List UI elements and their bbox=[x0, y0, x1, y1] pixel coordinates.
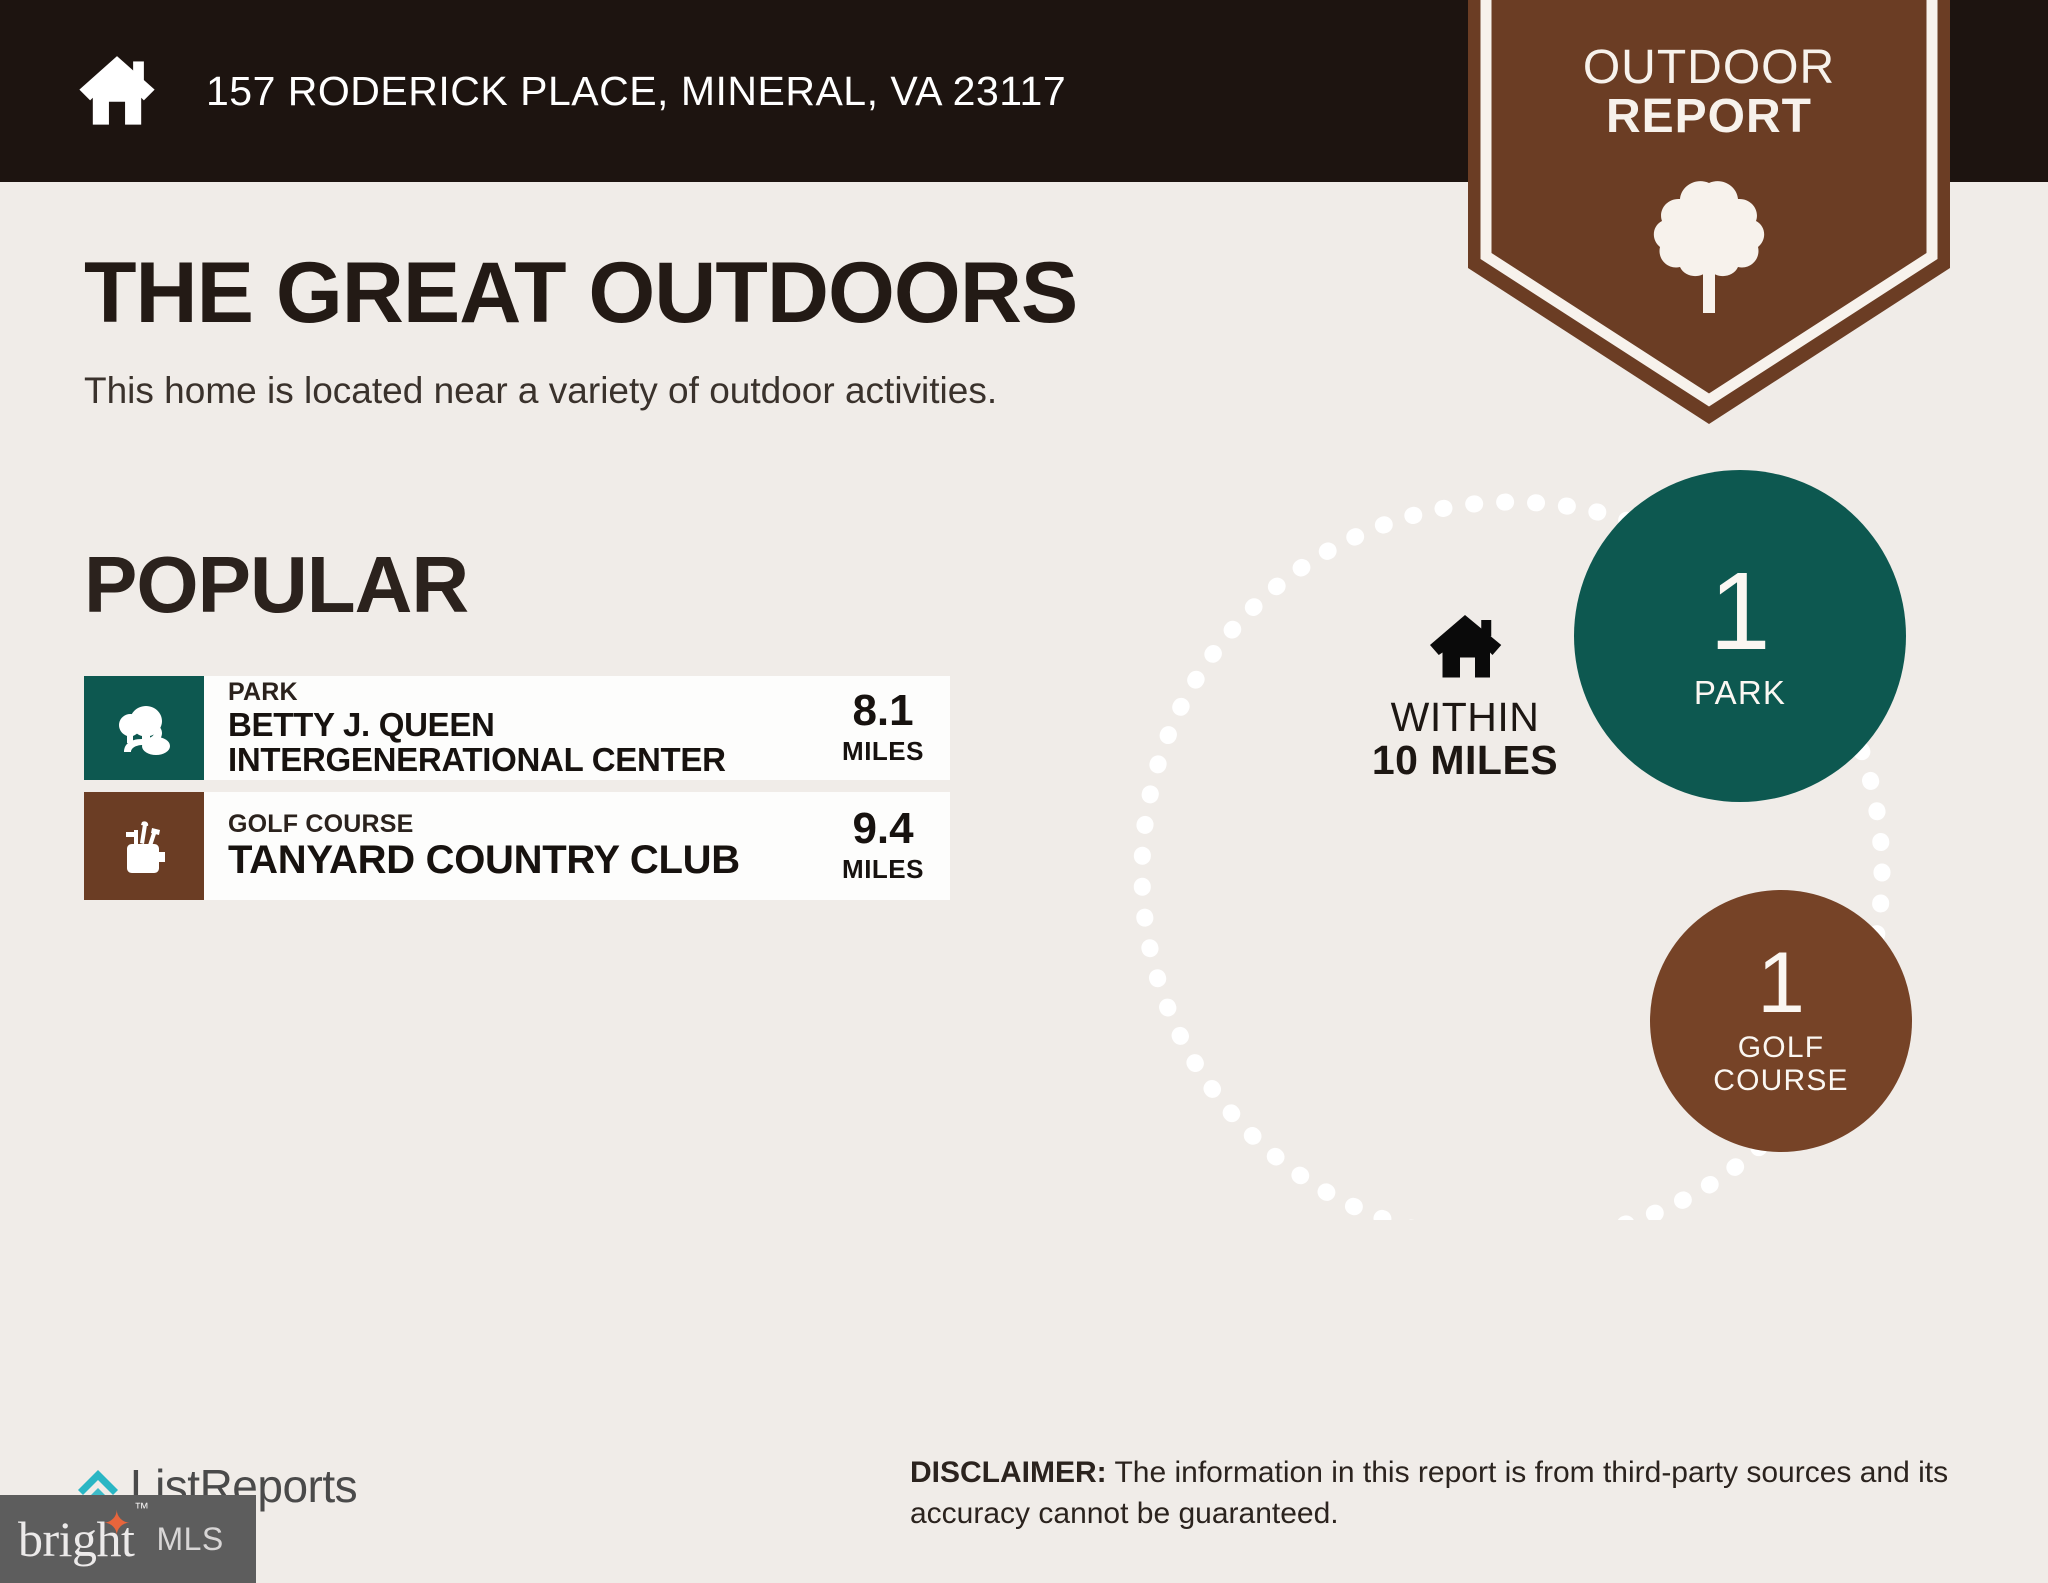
home-icon bbox=[74, 48, 160, 134]
section-heading-popular: POPULAR bbox=[84, 545, 468, 625]
bubble-golf-label-line2: COURSE bbox=[1713, 1064, 1849, 1097]
bubble-golf-count: 1 bbox=[1757, 945, 1805, 1022]
mls-wordmark: MLS bbox=[156, 1521, 223, 1558]
distance-unit: MILES bbox=[842, 854, 924, 885]
list-item[interactable]: PARK BETTY J. QUEEN INTERGENERATIONAL CE… bbox=[84, 676, 950, 780]
diagram-center-line1: WITHIN bbox=[1320, 696, 1610, 739]
star-icon: ✦ bbox=[102, 1508, 130, 1542]
park-trees-icon bbox=[84, 676, 204, 780]
list-item[interactable]: GOLF COURSE TANYARD COUNTRY CLUB 9.4 MIL… bbox=[84, 792, 950, 900]
list-item-name-line1: TANYARD COUNTRY CLUB bbox=[228, 839, 832, 882]
badge-title-line1: OUTDOOR bbox=[1583, 41, 1835, 94]
bubble-park[interactable]: 1 PARK bbox=[1574, 470, 1906, 802]
distance-unit: MILES bbox=[842, 736, 924, 767]
list-item-name-line1: BETTY J. QUEEN bbox=[228, 707, 832, 742]
popular-list: PARK BETTY J. QUEEN INTERGENERATIONAL CE… bbox=[84, 676, 950, 912]
list-item-text: PARK BETTY J. QUEEN INTERGENERATIONAL CE… bbox=[228, 678, 832, 777]
badge-title-line2: REPORT bbox=[1468, 93, 1950, 142]
bubble-golf-label: GOLF COURSE bbox=[1713, 1032, 1849, 1097]
bright-mls-logo: bright ✦ ™ MLS bbox=[0, 1495, 256, 1583]
outdoor-report-badge: OUTDOOR REPORT bbox=[1468, 0, 1950, 424]
bright-wordmark: bright ✦ ™ bbox=[18, 1510, 134, 1568]
home-icon bbox=[1425, 672, 1505, 689]
list-item-distance: 8.1 MILES bbox=[832, 689, 950, 767]
proximity-diagram: 1 PARK 1 GOLF COURSE WITHIN 10 MILES bbox=[1060, 420, 1980, 1220]
bubble-park-label: PARK bbox=[1694, 675, 1786, 711]
disclaimer-label: DISCLAIMER: bbox=[910, 1456, 1107, 1489]
bubble-park-count: 1 bbox=[1709, 562, 1770, 661]
distance-value: 9.4 bbox=[842, 807, 924, 851]
bubble-golf-label-line1: GOLF bbox=[1738, 1031, 1824, 1064]
list-item-body: PARK BETTY J. QUEEN INTERGENERATIONAL CE… bbox=[204, 676, 950, 780]
list-item-text: GOLF COURSE TANYARD COUNTRY CLUB bbox=[228, 810, 832, 882]
page-title: THE GREAT OUTDOORS bbox=[84, 250, 1077, 336]
list-item-name-line2: INTERGENERATIONAL CENTER bbox=[228, 742, 832, 777]
bubble-golf-course[interactable]: 1 GOLF COURSE bbox=[1650, 890, 1912, 1152]
list-item-category: GOLF COURSE bbox=[228, 810, 832, 839]
property-address: 157 RODERICK PLACE, MINERAL, VA 23117 bbox=[206, 68, 1066, 115]
diagram-center-line2: 10 MILES bbox=[1320, 739, 1610, 782]
page-subtitle: This home is located near a variety of o… bbox=[84, 370, 997, 412]
golf-bag-icon bbox=[84, 792, 204, 900]
list-item-body: GOLF COURSE TANYARD COUNTRY CLUB 9.4 MIL… bbox=[204, 792, 950, 900]
list-item-category: PARK bbox=[228, 678, 832, 707]
list-item-distance: 9.4 MILES bbox=[832, 807, 950, 885]
badge-title: OUTDOOR REPORT bbox=[1468, 44, 1950, 142]
diagram-center: WITHIN 10 MILES bbox=[1320, 605, 1610, 783]
disclaimer: DISCLAIMER: The information in this repo… bbox=[910, 1453, 1980, 1535]
distance-value: 8.1 bbox=[842, 689, 924, 733]
trademark-symbol: ™ bbox=[134, 1500, 149, 1517]
